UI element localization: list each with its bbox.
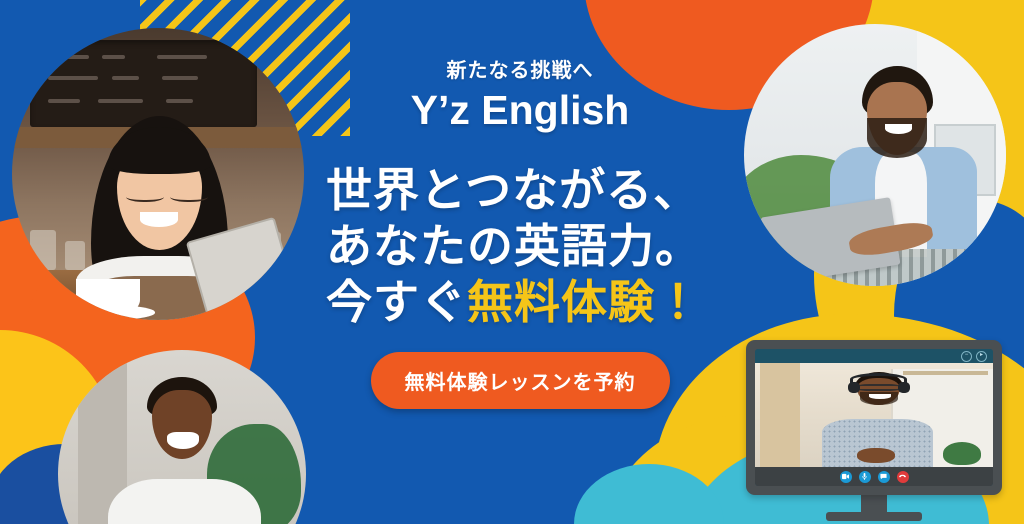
headline-line-3: 今すぐ無料体験！ — [326, 274, 702, 330]
photo-man-with-laptop-outdoors — [744, 24, 1006, 286]
monitor-stand-neck — [861, 492, 887, 514]
headline: 世界とつながる、 あなたの英語力。 今すぐ無料体験！ — [320, 162, 702, 330]
headline-line-1: 世界とつながる、 — [326, 162, 702, 218]
headline-line-2: あなたの英語力。 — [326, 218, 702, 274]
video-call-controls — [755, 467, 993, 486]
book-free-trial-button[interactable]: 無料体験レッスンを予約 — [371, 352, 670, 409]
chat-icon[interactable] — [878, 471, 890, 483]
brand-name: Y’z English — [411, 87, 630, 134]
hero-banner: − ▸ — [0, 0, 1024, 524]
photo-woman-with-tablet-in-cafe — [12, 28, 304, 320]
monitor-frame: − ▸ — [746, 340, 1002, 495]
video-call-monitor: − ▸ — [746, 340, 1002, 518]
expand-icon[interactable]: ▸ — [976, 351, 987, 362]
headline-line-3-prefix: 今すぐ — [326, 276, 467, 328]
eyebrow-text: 新たなる挑戦へ — [447, 54, 594, 83]
hero-content: 新たなる挑戦へ Y’z English 世界とつながる、 あなたの英語力。 今す… — [320, 0, 720, 524]
headline-line-3-highlight: 無料体験！ — [467, 276, 702, 328]
photo-man-waving-at-tablet — [58, 350, 306, 524]
end-call-icon[interactable] — [897, 471, 909, 483]
minimize-icon[interactable]: − — [961, 351, 972, 362]
microphone-icon[interactable] — [859, 471, 871, 483]
camera-icon[interactable] — [840, 471, 852, 483]
video-call-screen: − ▸ — [755, 349, 993, 486]
video-feed — [755, 363, 993, 467]
monitor-stand-base — [826, 512, 922, 521]
video-call-titlebar: − ▸ — [755, 349, 993, 363]
